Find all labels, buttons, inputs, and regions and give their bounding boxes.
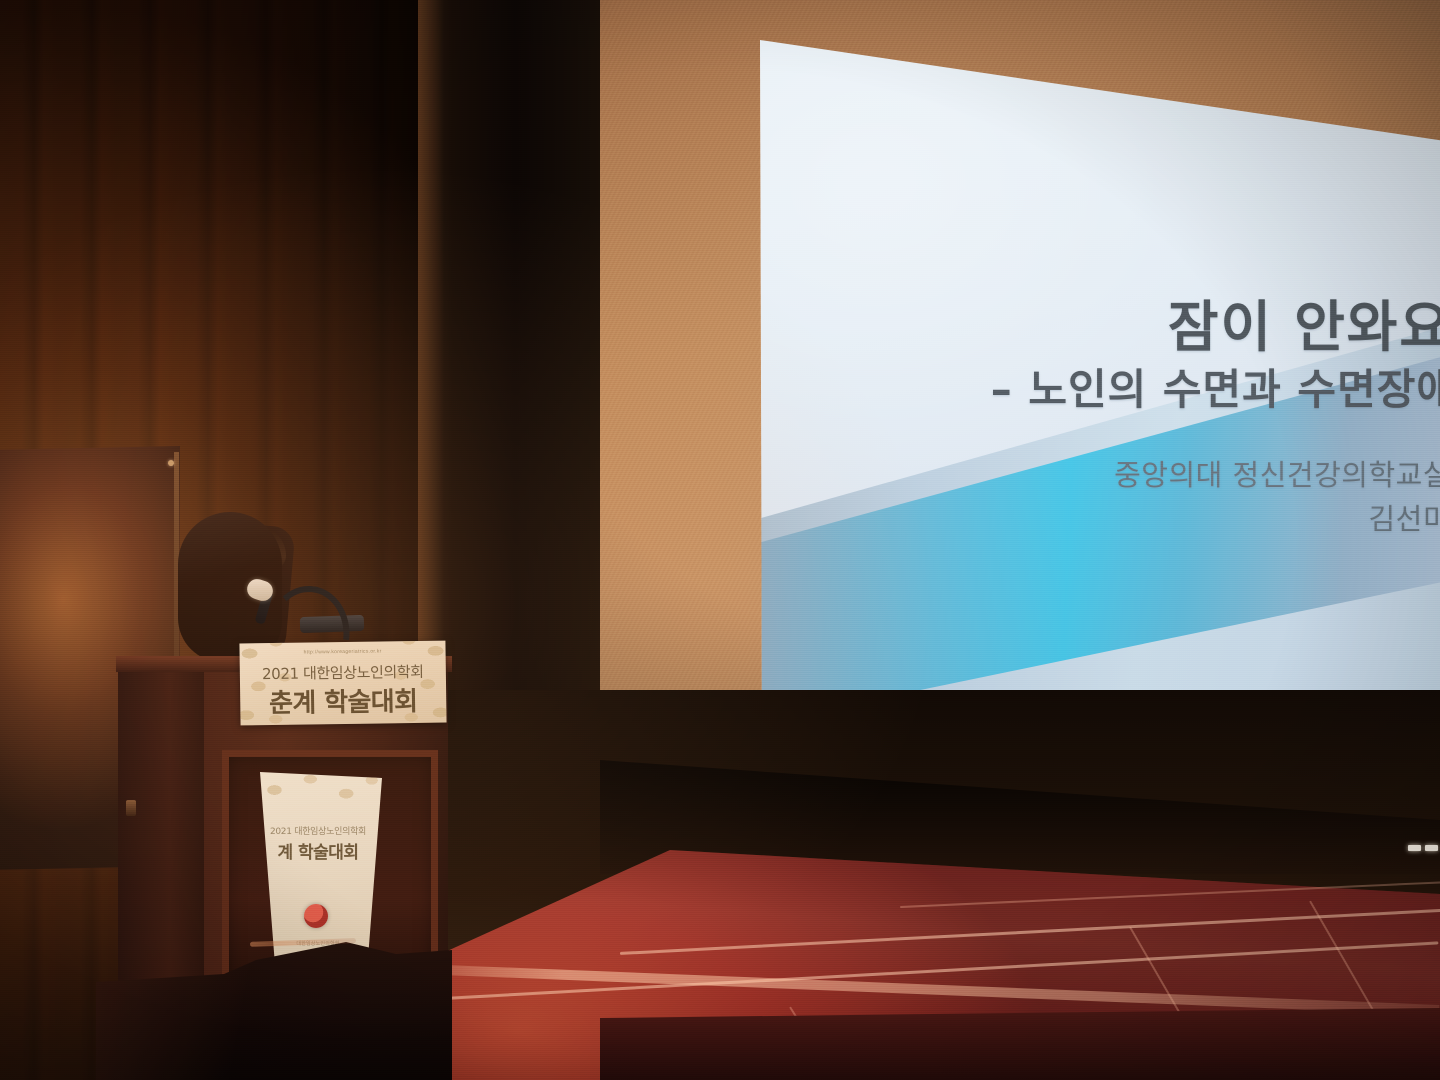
slide-presenter-name: 김선미 xyxy=(810,496,1440,538)
stage-front-skirt xyxy=(600,1008,1440,1080)
led-indicator-icon xyxy=(1425,845,1438,851)
conference-photo-scene: 잠이 안와요 – 노인의 수면과 수면장애 중앙의대 정신건강의학교실 김선미 xyxy=(0,0,1440,1080)
slide-affiliation: 중앙의대 정신건강의학교실 xyxy=(810,452,1440,494)
slide-title: 잠이 안와요 xyxy=(812,282,1440,362)
banner-event-name: 계 학술대회 xyxy=(254,838,382,863)
board-fastener-icon xyxy=(168,460,174,466)
sign-event-name: 춘계 학술대회 xyxy=(240,681,446,721)
podium-knob-icon xyxy=(126,800,136,816)
banner-ornament xyxy=(254,772,382,826)
slide-subtitle: – 노인의 수면과 수면장애 xyxy=(756,356,1440,417)
podium-side-panel xyxy=(118,672,204,1020)
podium-top-sign: http://www.koreageriatrics.or.kr 2021 대한… xyxy=(239,641,446,726)
led-indicator-icon xyxy=(1408,845,1421,851)
banner-emblem-icon xyxy=(304,904,328,928)
banner-org-name: 2021 대한임상노인의학회 xyxy=(254,824,382,837)
